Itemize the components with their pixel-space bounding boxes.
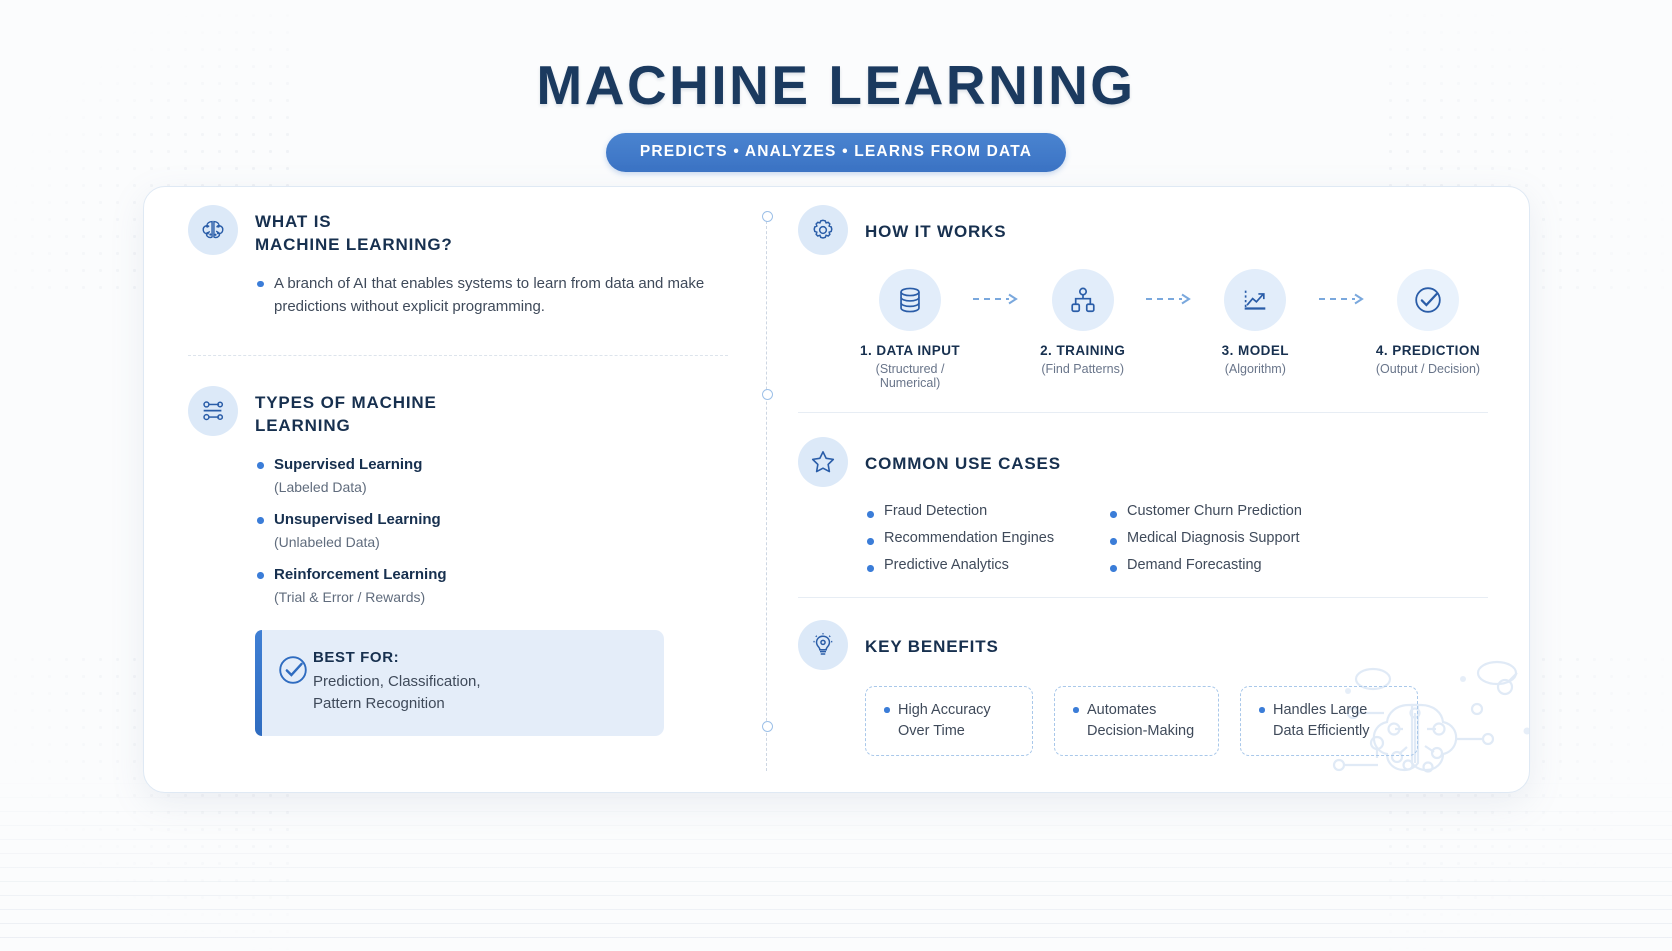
list-item: Fraud Detection [865, 503, 1108, 519]
section-title: COMMON USE CASES [865, 437, 1061, 475]
brain-icon [188, 205, 238, 255]
list-item: Unsupervised Learning (Unlabeled Data) [255, 509, 728, 553]
benefit-line-2: Decision-Making [1087, 723, 1194, 739]
flow-step-label: 4. PREDICTION [1368, 343, 1488, 358]
check-circle-icon [1397, 269, 1459, 331]
flow-step-3: 3. MODEL (Algorithm) [1195, 269, 1315, 376]
benefit-card-2: Automates Decision-Making [1054, 686, 1219, 756]
chart-up-icon [1224, 269, 1286, 331]
title-line-2: MACHINE LEARNING? [255, 235, 453, 254]
right-divider-1 [798, 412, 1488, 413]
star-icon [798, 437, 848, 487]
flow-step-sub: (Structured / Numerical) [850, 362, 970, 390]
section-key-benefits: KEY BENEFITS High Accuracy Over Time Aut… [798, 620, 1488, 756]
benefit-line-2: Over Time [898, 723, 965, 739]
flow-step-label: 1. DATA INPUT [850, 343, 970, 358]
flow-arrow-1-icon [970, 269, 1023, 305]
divider-node-bottom [762, 721, 773, 732]
lightbulb-icon [798, 620, 848, 670]
list-item: Recommendation Engines [865, 530, 1108, 546]
list-item: Handles Large Data Efficiently [1257, 700, 1369, 741]
benefit-card-3: Handles Large Data Efficiently [1240, 686, 1418, 756]
section-common-use-cases: COMMON USE CASES Fraud Detection Recomme… [798, 437, 1488, 573]
flow-step-label: 2. TRAINING [1023, 343, 1143, 358]
benefit-line-1: Automates [1087, 702, 1156, 718]
types-list: Supervised Learning (Labeled Data) Unsup… [255, 454, 728, 607]
hierarchy-icon [1052, 269, 1114, 331]
check-circle-icon [275, 652, 311, 693]
flow-step-2: 2. TRAINING (Find Patterns) [1023, 269, 1143, 376]
flow-arrow-2-icon [1143, 269, 1196, 305]
flow-step-label: 3. MODEL [1195, 343, 1315, 358]
list-item: Predictive Analytics [865, 557, 1108, 573]
benefit-line-2: Data Efficiently [1273, 723, 1369, 739]
divider-node-middle [762, 389, 773, 400]
title-line-1: WHAT IS [255, 212, 331, 231]
list-item: High Accuracy Over Time [882, 700, 991, 741]
type-name: Reinforcement Learning [274, 564, 728, 587]
best-for-title: BEST FOR: [313, 649, 646, 666]
type-name: Unsupervised Learning [274, 509, 728, 532]
gear-icon [798, 205, 848, 255]
type-name: Supervised Learning [274, 454, 728, 477]
best-for-body: Prediction, Classification, Pattern Reco… [313, 671, 646, 716]
page-title: MACHINE LEARNING [0, 58, 1672, 113]
flow-step-sub: (Output / Decision) [1368, 362, 1488, 376]
title-line-1: TYPES OF MACHINE [255, 393, 437, 412]
section-header: HOW IT WORKS [798, 205, 1488, 255]
flow-step-4: 4. PREDICTION (Output / Decision) [1368, 269, 1488, 376]
list-item: Automates Decision-Making [1071, 700, 1194, 741]
list-item: Demand Forecasting [1108, 557, 1488, 573]
list-item: A branch of AI that enables systems to l… [255, 273, 728, 319]
sliders-icon [188, 386, 238, 436]
benefit-line-1: High Accuracy [898, 702, 991, 718]
section-how-it-works: HOW IT WORKS 1. DATA INPUT (Structured /… [798, 205, 1488, 390]
use-cases-grid: Fraud Detection Recommendation Engines P… [865, 503, 1488, 573]
section-header: COMMON USE CASES [798, 437, 1488, 487]
title-line-2: LEARNING [255, 416, 351, 435]
subtitle-badge: PREDICTS • ANALYZES • LEARNS FROM DATA [606, 133, 1066, 172]
section-title: HOW IT WORKS [865, 205, 1006, 243]
flow-step-1: 1. DATA INPUT (Structured / Numerical) [850, 269, 970, 390]
benefit-card-1: High Accuracy Over Time [865, 686, 1033, 756]
divider-node-top [762, 211, 773, 222]
page-header: MACHINE LEARNING PREDICTS • ANALYZES • L… [0, 58, 1672, 172]
left-divider-1 [188, 355, 728, 356]
flow-step-sub: (Algorithm) [1195, 362, 1315, 376]
type-detail: (Labeled Data) [274, 477, 728, 498]
flow-arrow-3-icon [1315, 269, 1368, 305]
section-header: KEY BENEFITS [798, 620, 1488, 670]
best-for-line-2: Pattern Recognition [313, 695, 445, 712]
section-what-is-ml: WHAT IS MACHINE LEARNING? A branch of AI… [188, 205, 728, 319]
list-item: Reinforcement Learning (Trial & Error / … [255, 564, 728, 608]
how-it-works-flow: 1. DATA INPUT (Structured / Numerical) [850, 269, 1488, 390]
section-title: WHAT IS MACHINE LEARNING? [255, 205, 453, 257]
type-detail: (Trial & Error / Rewards) [274, 587, 728, 608]
flow-step-sub: (Find Patterns) [1023, 362, 1143, 376]
right-column: HOW IT WORKS 1. DATA INPUT (Structured /… [798, 205, 1488, 756]
database-icon [879, 269, 941, 331]
best-for-callout: BEST FOR: Prediction, Classification, Pa… [255, 630, 664, 736]
list-item: Supervised Learning (Labeled Data) [255, 454, 728, 498]
list-item: Medical Diagnosis Support [1108, 530, 1488, 546]
column-divider [766, 211, 767, 771]
list-item: Customer Churn Prediction [1108, 503, 1488, 519]
use-cases-column-2: Customer Churn Prediction Medical Diagno… [1108, 503, 1488, 573]
use-cases-column-1: Fraud Detection Recommendation Engines P… [865, 503, 1108, 573]
section-header: WHAT IS MACHINE LEARNING? [188, 205, 728, 257]
section-title: TYPES OF MACHINE LEARNING [255, 386, 437, 438]
best-for-line-1: Prediction, Classification, [313, 673, 481, 690]
what-is-bullet-list: A branch of AI that enables systems to l… [255, 273, 728, 319]
main-content-card: WHAT IS MACHINE LEARNING? A branch of AI… [143, 186, 1530, 793]
section-header: TYPES OF MACHINE LEARNING [188, 386, 728, 438]
section-title: KEY BENEFITS [865, 620, 999, 658]
benefit-line-1: Handles Large [1273, 702, 1367, 718]
left-column: WHAT IS MACHINE LEARNING? A branch of AI… [188, 205, 728, 736]
section-types-of-ml: TYPES OF MACHINE LEARNING Supervised Lea… [188, 386, 728, 736]
right-divider-2 [798, 597, 1488, 598]
type-detail: (Unlabeled Data) [274, 532, 728, 553]
benefits-card-row: High Accuracy Over Time Automates Decisi… [865, 686, 1488, 756]
